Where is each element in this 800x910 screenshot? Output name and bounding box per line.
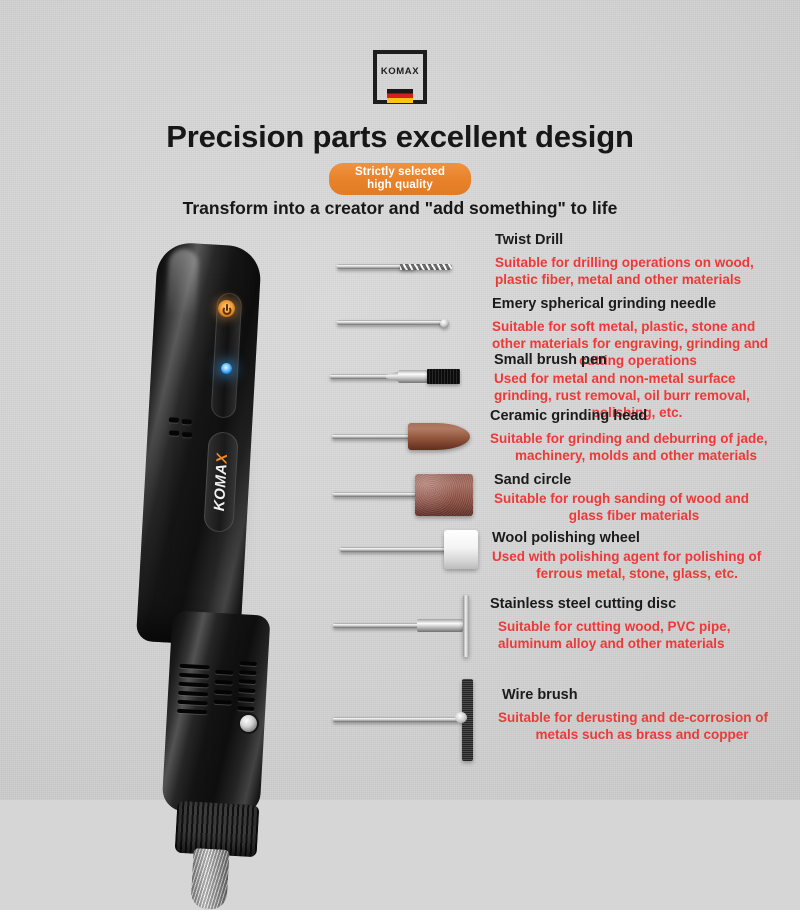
sanding-drum	[415, 474, 473, 516]
disc-mandrel	[417, 619, 463, 632]
accessory-title: Sand circle	[494, 472, 571, 488]
accessory-description: Suitable for derusting and de-corrosion …	[498, 709, 786, 743]
wool-wheel	[444, 530, 478, 569]
description-line: plastic fiber, metal and other materials	[495, 271, 780, 288]
accessory-shaft	[332, 434, 418, 439]
accessory-title: Emery spherical grinding needle	[492, 296, 716, 312]
page-title: Precision parts excellent design	[0, 119, 800, 155]
badge-line-1: Strictly selected	[355, 166, 445, 179]
accessory-description: Suitable for rough sanding of wood and g…	[494, 490, 774, 524]
tool-brand-text: KOMAX	[211, 452, 231, 511]
accessory-title: Wool polishing wheel	[492, 530, 640, 546]
accessory-shaft	[340, 547, 452, 552]
vent-slot	[182, 419, 192, 425]
drill-flutes	[400, 264, 452, 270]
accessory-shaft	[333, 717, 465, 722]
accessory-title: Ceramic grinding head	[490, 408, 647, 424]
rotary-tool-image: KOMAX	[120, 235, 370, 765]
description-line: Suitable for derusting and de-corrosion …	[498, 709, 786, 726]
description-line: glass fiber materials	[494, 507, 774, 524]
accessory-title: Stainless steel cutting disc	[490, 596, 676, 612]
accessory-description: Suitable for grinding and deburring of j…	[490, 430, 782, 464]
description-line: grinding, rust removal, oil burr removal…	[494, 387, 780, 404]
description-line: Suitable for grinding and deburring of j…	[490, 430, 782, 447]
accessory-description: Suitable for drilling operations on wood…	[495, 254, 780, 288]
collet-chuck-icon	[190, 848, 229, 910]
komax-logo: KOMAX	[373, 50, 427, 104]
description-line: Suitable for rough sanding of wood and	[494, 490, 774, 507]
badge-line-2: high quality	[355, 179, 445, 192]
accessory-shaft	[337, 320, 443, 325]
accessory-title: Small brush pen	[494, 352, 607, 368]
spindle-lock-button[interactable]	[238, 713, 259, 734]
brush-ferrule	[398, 370, 428, 383]
accessory-title: Wire brush	[502, 687, 578, 703]
accessory-title: Twist Drill	[495, 232, 563, 248]
accessory-shaft	[333, 492, 423, 497]
description-line: aluminum alloy and other materials	[498, 635, 778, 652]
accessory-description: Used with polishing agent for polishing …	[492, 548, 782, 582]
vent-slot	[169, 430, 179, 436]
german-flag-icon	[387, 89, 413, 103]
accessory-description: Suitable for cutting wood, PVC pipe, alu…	[498, 618, 778, 652]
description-line: Suitable for cutting wood, PVC pipe,	[498, 618, 778, 635]
cutting-disc	[463, 595, 469, 657]
tool-brand-badge: KOMAX	[203, 431, 239, 533]
ceramic-bullet-tip	[408, 423, 470, 450]
side-vent-slots	[167, 417, 195, 454]
brush-bristles	[427, 369, 460, 384]
product-infographic: KOMAX Precision parts excellent design S…	[0, 0, 800, 800]
brush-hub	[455, 712, 467, 723]
page-subtitle: Transform into a creator and "add someth…	[0, 198, 800, 219]
description-line: ferrous metal, stone, glass, etc.	[492, 565, 782, 582]
vent-slot	[182, 432, 192, 438]
description-line: metals such as brass and copper	[498, 726, 786, 743]
description-line: other materials for engraving, grinding …	[492, 335, 784, 352]
description-line: Used for metal and non-metal surface	[494, 370, 780, 387]
logo-brand-text: KOMAX	[377, 66, 423, 77]
spherical-tip	[440, 319, 449, 328]
power-icon	[218, 300, 235, 317]
quality-badge: Strictly selected high quality	[329, 163, 471, 195]
vent-slot	[169, 417, 179, 423]
accessory-shaft	[333, 623, 425, 628]
description-line: Suitable for soft metal, plastic, stone …	[492, 318, 784, 335]
description-line: Used with polishing agent for polishing …	[492, 548, 782, 565]
description-line: machinery, molds and other materials	[490, 447, 782, 464]
description-line: Suitable for drilling operations on wood…	[495, 254, 780, 271]
led-indicator-icon	[221, 363, 232, 374]
